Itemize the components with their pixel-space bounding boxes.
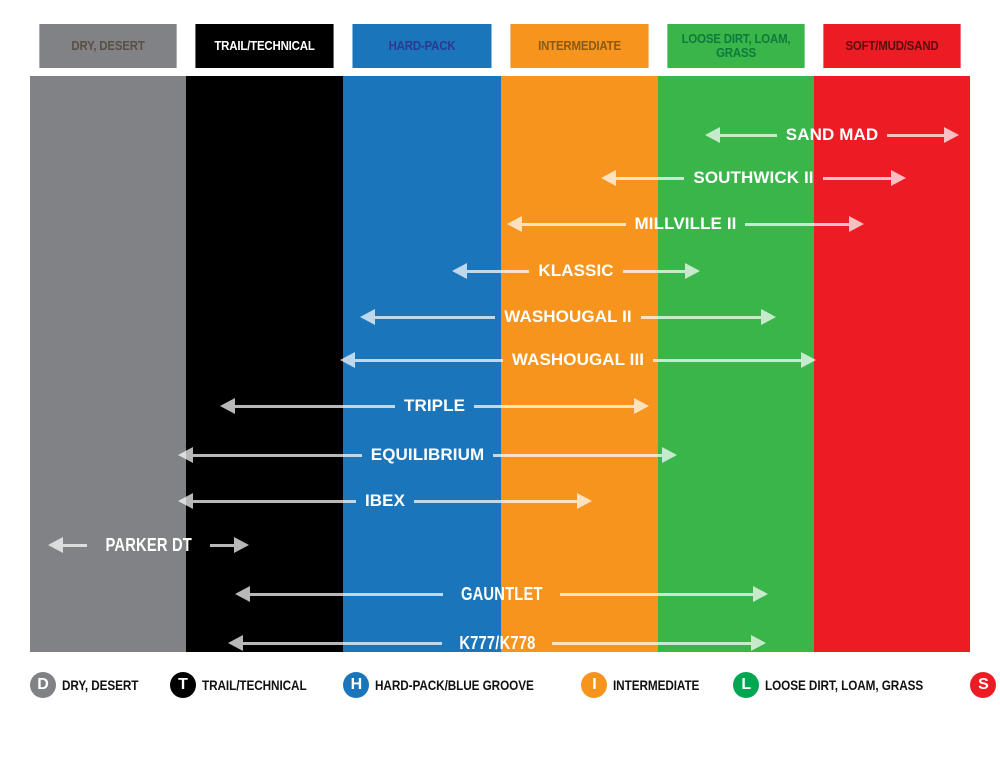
arrow-left-icon [705, 127, 720, 143]
arrow-right-icon [753, 586, 768, 602]
legend-item[interactable]: IINTERMEDIATE [581, 672, 716, 698]
arrow-shaft-right [210, 544, 234, 547]
arrow-left-icon [340, 352, 355, 368]
arrow-left-icon [220, 398, 235, 414]
arrow-left-icon [360, 309, 375, 325]
terrain-chart: DRY, DESERTTRAIL/TECHNICALHARD-PACKINTER… [30, 24, 970, 652]
header-gap-cell [343, 68, 501, 76]
tire-row[interactable]: MILLVILLE II [507, 211, 864, 237]
arrow-shaft-right [560, 593, 753, 596]
legend-badge-i-icon: I [581, 672, 607, 698]
tire-row[interactable]: K777/K778 [228, 630, 766, 656]
tire-name-label: K777/K778 [452, 633, 543, 654]
arrow-right-icon [891, 170, 906, 186]
arrow-shaft-left [467, 270, 529, 273]
arrow-left-icon [507, 216, 522, 232]
tire-name-label: KLASSIC [529, 261, 622, 281]
legend-label: TRAIL/TECHNICAL [202, 677, 307, 693]
arrow-shaft-right [623, 270, 685, 273]
terrain-header-intermediate: INTERMEDIATE [510, 24, 648, 68]
legend-item[interactable]: SSOFT/MUD/SAND [970, 672, 1000, 698]
arrow-shaft-right [552, 642, 751, 645]
terrain-header-dry-desert: DRY, DESERT [39, 24, 176, 68]
tire-name-label: TRIPLE [395, 396, 474, 416]
arrow-left-icon [48, 537, 63, 553]
arrow-shaft-right [493, 454, 662, 457]
legend-label: DRY, DESERT [62, 677, 138, 693]
arrow-shaft-left [243, 642, 442, 645]
tire-rows: SAND MADSOUTHWICK IIMILLVILLE IIKLASSICW… [30, 76, 970, 652]
terrain-header-loose-dirt-loam-grass: LOOSE DIRT, LOAM, GRASS [667, 24, 804, 68]
arrow-shaft-right [887, 134, 944, 137]
arrow-shaft-right [474, 405, 634, 408]
tire-name-label: PARKER DT [98, 535, 199, 556]
tire-name-label: WASHOUGAL II [495, 307, 640, 327]
arrow-shaft-right [653, 359, 801, 362]
arrow-shaft-right [823, 177, 891, 180]
arrow-shaft-left [355, 359, 503, 362]
tire-row[interactable]: WASHOUGAL III [340, 347, 816, 373]
legend-item[interactable]: LLOOSE DIRT, LOAM, GRASS [733, 672, 953, 698]
arrow-shaft-left [235, 405, 395, 408]
tire-name-label: SOUTHWICK II [684, 168, 822, 188]
tire-row[interactable]: IBEX [178, 488, 592, 514]
terrain-header-soft-mud-sand: SOFT/MUD/SAND [823, 24, 960, 68]
tire-row[interactable]: KLASSIC [452, 258, 700, 284]
arrow-right-icon [944, 127, 959, 143]
tire-row[interactable]: WASHOUGAL II [360, 304, 776, 330]
arrow-shaft-left [720, 134, 777, 137]
legend-badge-t-icon: T [170, 672, 196, 698]
arrow-right-icon [801, 352, 816, 368]
arrow-left-icon [178, 447, 193, 463]
legend-label: LOOSE DIRT, LOAM, GRASS [765, 677, 923, 693]
header-gap-cell [186, 68, 343, 76]
legend-item[interactable]: DDRY, DESERT [30, 672, 153, 698]
arrow-right-icon [234, 537, 249, 553]
arrow-left-icon [228, 635, 243, 651]
terrain-header-hard-pack: HARD-PACK [352, 24, 491, 68]
arrow-shaft-left [616, 177, 684, 180]
terrain-header-trail-technical: TRAIL/TECHNICAL [195, 24, 333, 68]
legend-badge-l-icon: L [733, 672, 759, 698]
arrow-shaft-right [745, 223, 849, 226]
tire-row[interactable]: TRIPLE [220, 393, 649, 419]
arrow-left-icon [452, 263, 467, 279]
terrain-legend: DDRY, DESERTTTRAIL/TECHNICALHHARD-PACK/B… [30, 668, 970, 702]
arrow-shaft-left [250, 593, 443, 596]
tire-row[interactable]: SOUTHWICK II [601, 165, 906, 191]
arrow-shaft-left [522, 223, 626, 226]
header-gap-cell [658, 68, 814, 76]
header-gap-cell [30, 68, 186, 76]
arrow-shaft-left [63, 544, 87, 547]
legend-label: INTERMEDIATE [613, 677, 699, 693]
tire-name-label: EQUILIBRIUM [362, 445, 493, 465]
arrow-left-icon [235, 586, 250, 602]
arrow-right-icon [849, 216, 864, 232]
tire-name-label: GAUNTLET [453, 584, 549, 605]
tire-row[interactable]: SAND MAD [705, 122, 959, 148]
arrow-shaft-left [193, 500, 356, 503]
arrow-shaft-left [193, 454, 362, 457]
tire-name-label: WASHOUGAL III [503, 350, 653, 370]
tire-name-label: MILLVILLE II [626, 214, 746, 234]
header-gap-cell [814, 68, 970, 76]
legend-item[interactable]: TTRAIL/TECHNICAL [170, 672, 327, 698]
arrow-left-icon [178, 493, 193, 509]
legend-badge-h-icon: H [343, 672, 369, 698]
arrow-right-icon [685, 263, 700, 279]
legend-label: HARD-PACK/BLUE GROOVE [375, 677, 534, 693]
terrain-header-row: DRY, DESERTTRAIL/TECHNICALHARD-PACKINTER… [30, 24, 970, 68]
arrow-right-icon [662, 447, 677, 463]
arrow-right-icon [751, 635, 766, 651]
header-separator [30, 68, 970, 76]
arrow-shaft-right [414, 500, 577, 503]
tire-name-label: SAND MAD [777, 125, 887, 145]
arrow-right-icon [577, 493, 592, 509]
tire-row[interactable]: EQUILIBRIUM [178, 442, 677, 468]
legend-item[interactable]: HHARD-PACK/BLUE GROOVE [343, 672, 564, 698]
arrow-right-icon [761, 309, 776, 325]
tire-name-label: IBEX [356, 491, 414, 511]
header-gap-cell [501, 68, 658, 76]
chart-body: SAND MADSOUTHWICK IIMILLVILLE IIKLASSICW… [30, 76, 970, 652]
legend-badge-d-icon: D [30, 672, 56, 698]
arrow-left-icon [601, 170, 616, 186]
tire-row[interactable]: GAUNTLET [235, 581, 768, 607]
legend-badge-s-icon: S [970, 672, 996, 698]
arrow-shaft-right [641, 316, 761, 319]
arrow-right-icon [634, 398, 649, 414]
tire-row[interactable]: PARKER DT [48, 532, 249, 558]
arrow-shaft-left [375, 316, 495, 319]
